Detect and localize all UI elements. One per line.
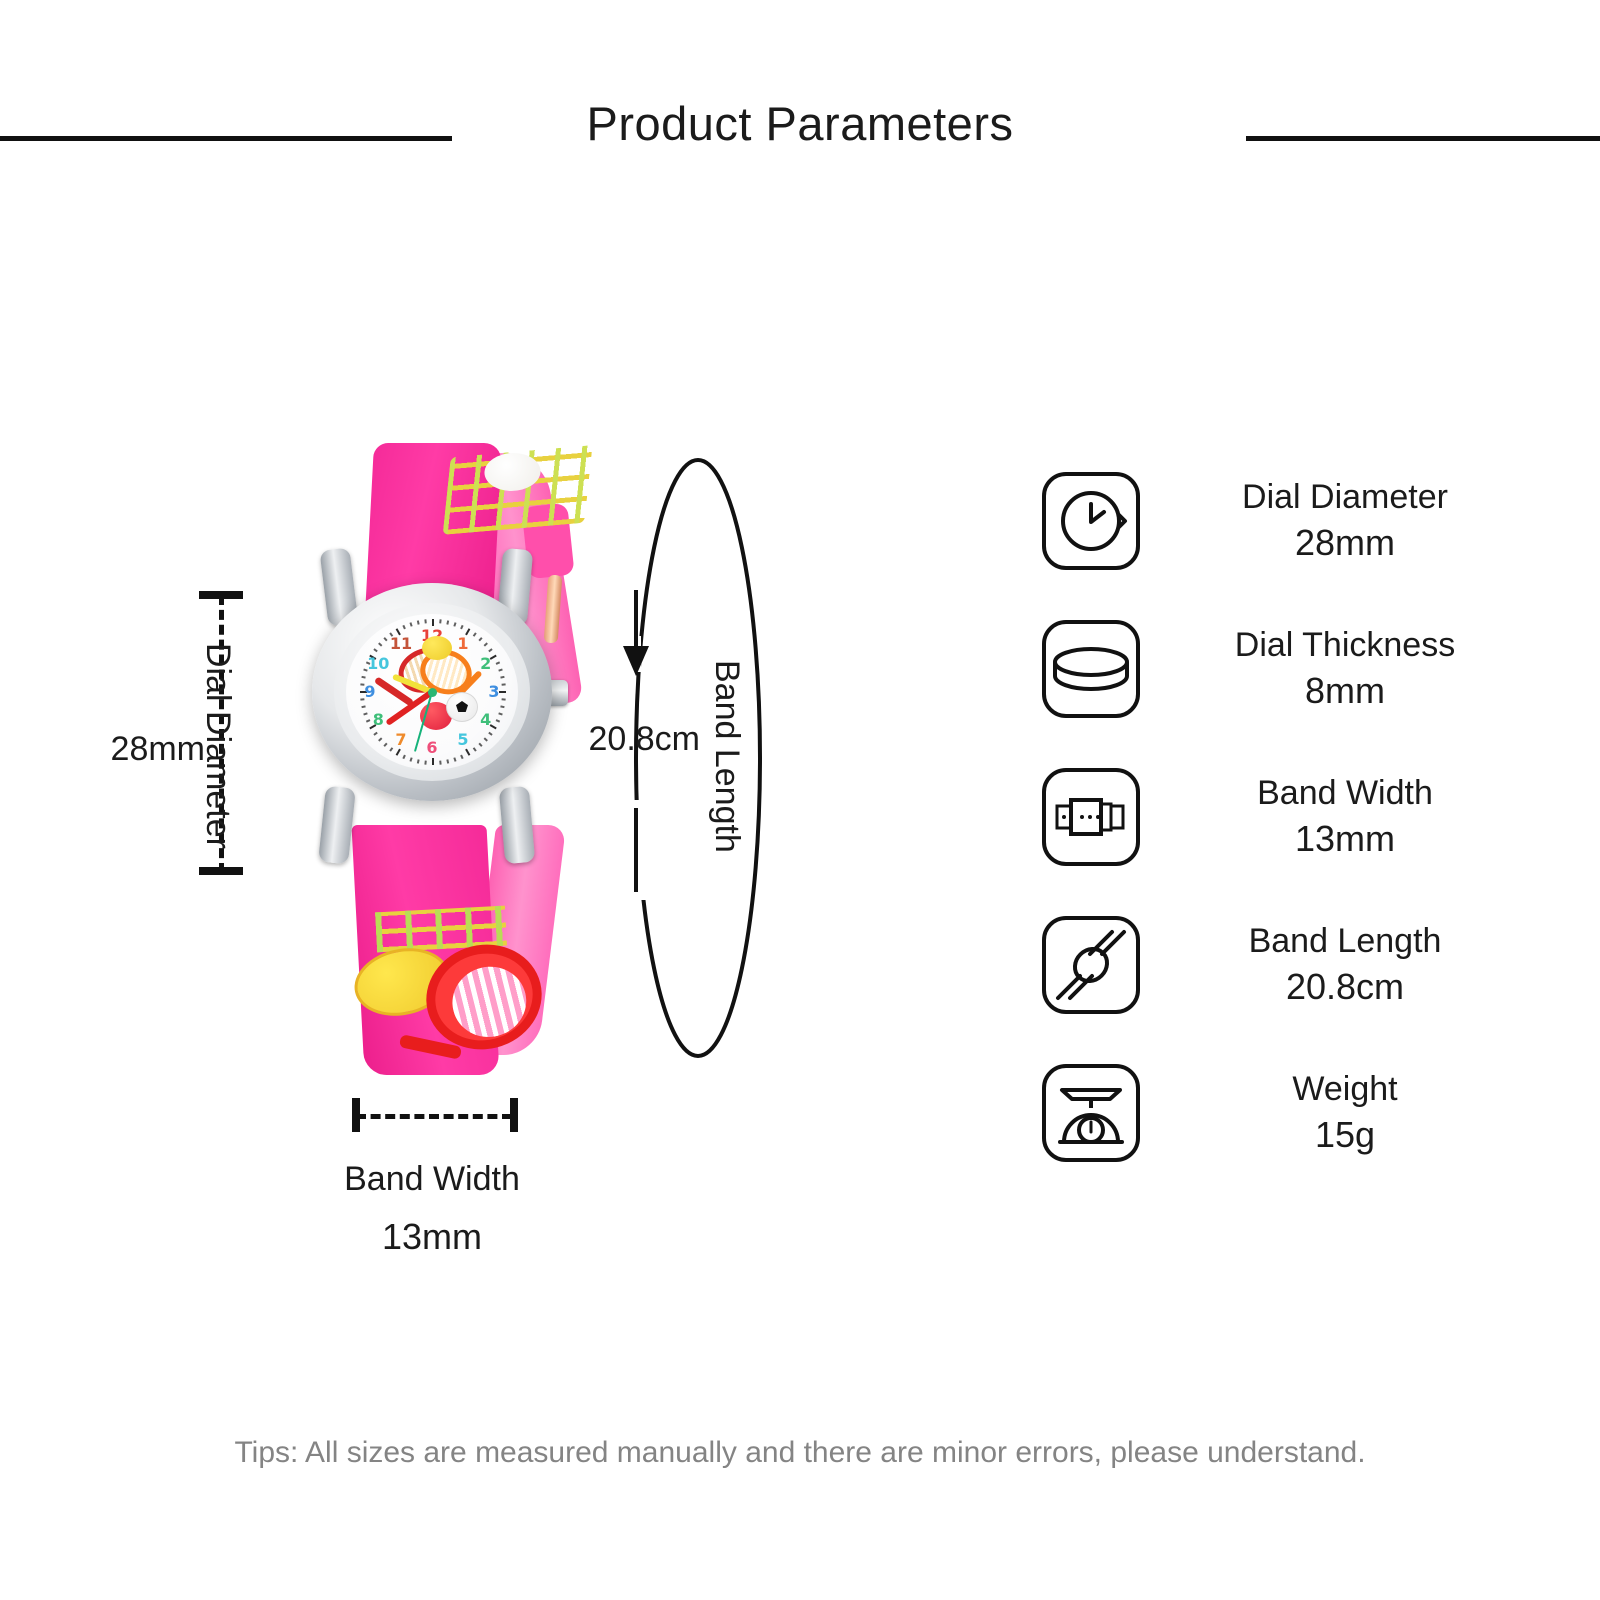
spec-value: 28mm — [1180, 520, 1510, 566]
spec-text-dial-diameter: Dial Diameter 28mm — [1180, 476, 1510, 566]
dial-numeral-10: 10 — [367, 656, 389, 672]
dial-tick — [383, 743, 387, 747]
spec-text-weight: Weight 15g — [1180, 1068, 1510, 1158]
dial-tick — [432, 758, 434, 765]
dial-tick — [453, 757, 456, 761]
dial-numeral-1: 1 — [457, 636, 468, 652]
spec-value: 20.8cm — [1180, 964, 1510, 1010]
spec-row-band-length: Band Length 20.8cm — [1040, 914, 1560, 1062]
dial-tick — [478, 637, 482, 641]
dial-tick — [417, 759, 420, 763]
spec-value: 13mm — [1180, 816, 1510, 862]
dial-numeral-5: 5 — [457, 732, 468, 748]
dial-tick — [383, 637, 387, 641]
band-length-loop-icon — [590, 440, 800, 1080]
watch-lug-bottom-right — [499, 786, 536, 864]
dial-numeral-6: 6 — [426, 740, 437, 756]
dial-tick — [378, 642, 382, 646]
band-length-callout: Band Length 20.8cm — [590, 440, 800, 1080]
dial-tick — [417, 620, 420, 624]
dial-tick — [378, 737, 382, 741]
spec-text-band-width: Band Width 13mm — [1180, 772, 1510, 862]
product-photo: 121234567891011 — [300, 425, 610, 1095]
dial-tick — [361, 705, 365, 708]
dial-tick — [460, 625, 463, 629]
watch-lug-bottom-left — [318, 786, 356, 865]
dial-tick — [361, 676, 365, 679]
dial-tick — [498, 712, 502, 715]
dial-tick — [500, 705, 504, 708]
dial-tick — [460, 755, 463, 759]
dial-tick — [409, 622, 412, 626]
watch-hand-pin — [428, 688, 437, 697]
dial-tick — [424, 619, 426, 623]
dial-tick — [478, 743, 482, 747]
watch-case: 121234567891011 — [312, 583, 552, 801]
dial-tick — [496, 661, 500, 664]
dial-tick — [366, 719, 370, 722]
kitchen-scale-icon — [1040, 1062, 1142, 1164]
spec-text-dial-thickness: Dial Thickness 8mm — [1180, 624, 1510, 714]
band-length-watch-icon — [1040, 914, 1142, 1016]
dial-tick — [439, 619, 441, 623]
dial-tick — [409, 757, 412, 761]
dial-tick — [432, 619, 434, 626]
dial-tick — [484, 642, 488, 646]
band-width-value: 13mm — [272, 1216, 592, 1258]
dial-tick — [500, 676, 504, 679]
dial-tick — [396, 749, 401, 756]
page-title: Product Parameters — [0, 100, 1600, 147]
specifications-list: Dial Diameter 28mm Dial Thickness 8mm — [1040, 470, 1560, 1210]
band-length-label: Band Length — [707, 660, 746, 920]
dial-tick — [402, 625, 405, 629]
dial-tick — [473, 747, 477, 751]
dial-diameter-value: 28mm — [5, 730, 205, 769]
dial-tick — [488, 648, 492, 652]
dial-tick — [499, 691, 506, 693]
watch-dial-icon — [1040, 470, 1142, 572]
dial-tick — [502, 683, 506, 685]
dial-numeral-4: 4 — [480, 712, 491, 728]
dial-numeral-2: 2 — [480, 656, 491, 672]
spec-label: Dial Diameter — [1180, 476, 1510, 520]
tennis-charm-bottom — [352, 905, 562, 1055]
dial-tick — [453, 622, 456, 626]
dial-tennis-ball-icon — [422, 636, 452, 660]
dial-tick — [502, 698, 506, 700]
dial-tick — [402, 755, 405, 759]
dial-thickness-puck-icon — [1040, 618, 1142, 720]
spec-row-weight: Weight 15g — [1040, 1062, 1560, 1210]
band-width-dimension-line — [356, 1114, 512, 1119]
spec-row-band-width: Band Width 13mm — [1040, 766, 1560, 914]
dial-numeral-11: 11 — [390, 636, 412, 652]
dial-tick — [484, 737, 488, 741]
tennis-racquet-icon — [415, 933, 553, 1062]
tennis-net-charm-top — [446, 451, 590, 529]
dial-tick — [488, 732, 492, 736]
footer-tips: Tips: All sizes are measured manually an… — [0, 1436, 1600, 1470]
band-length-value: 20.8cm — [500, 720, 700, 759]
dial-tick — [465, 749, 470, 756]
spec-label: Band Width — [1180, 772, 1510, 816]
dial-tick — [446, 620, 449, 624]
spec-value: 15g — [1180, 1112, 1510, 1158]
dial-tick — [373, 732, 377, 736]
dial-tick — [446, 759, 449, 763]
dial-tick — [363, 712, 367, 715]
band-width-label: Band Width — [272, 1160, 592, 1199]
band-width-strap-icon — [1040, 766, 1142, 868]
spec-row-dial-diameter: Dial Diameter 28mm — [1040, 470, 1560, 618]
spec-value: 8mm — [1180, 668, 1510, 714]
dial-diameter-callout: Dial Diameter 28mm — [60, 575, 290, 895]
dial-tick — [424, 761, 426, 765]
spec-label: Weight — [1180, 1068, 1510, 1112]
dial-numeral-8: 8 — [373, 712, 384, 728]
spec-text-band-length: Band Length 20.8cm — [1180, 920, 1510, 1010]
page-header: Product Parameters — [0, 0, 1600, 190]
dial-numeral-7: 7 — [395, 732, 406, 748]
dial-soccer-ball-icon — [446, 692, 478, 722]
dial-tick — [498, 668, 502, 671]
watch-dial: 121234567891011 — [346, 614, 518, 770]
dial-tick — [373, 648, 377, 652]
spec-label: Band Length — [1180, 920, 1510, 964]
spec-row-dial-thickness: Dial Thickness 8mm — [1040, 618, 1560, 766]
racquet-strings — [445, 959, 534, 1045]
dimension-cap-bottom — [199, 867, 243, 875]
band-width-callout: Band Width 13mm — [348, 1098, 598, 1278]
dial-numeral-9: 9 — [364, 684, 375, 700]
band-width-cap-right — [510, 1098, 518, 1132]
dial-tick — [389, 747, 393, 751]
dial-tick — [439, 761, 441, 765]
dial-numeral-3: 3 — [488, 684, 499, 700]
dial-tick — [473, 632, 477, 636]
spec-label: Dial Thickness — [1180, 624, 1510, 668]
